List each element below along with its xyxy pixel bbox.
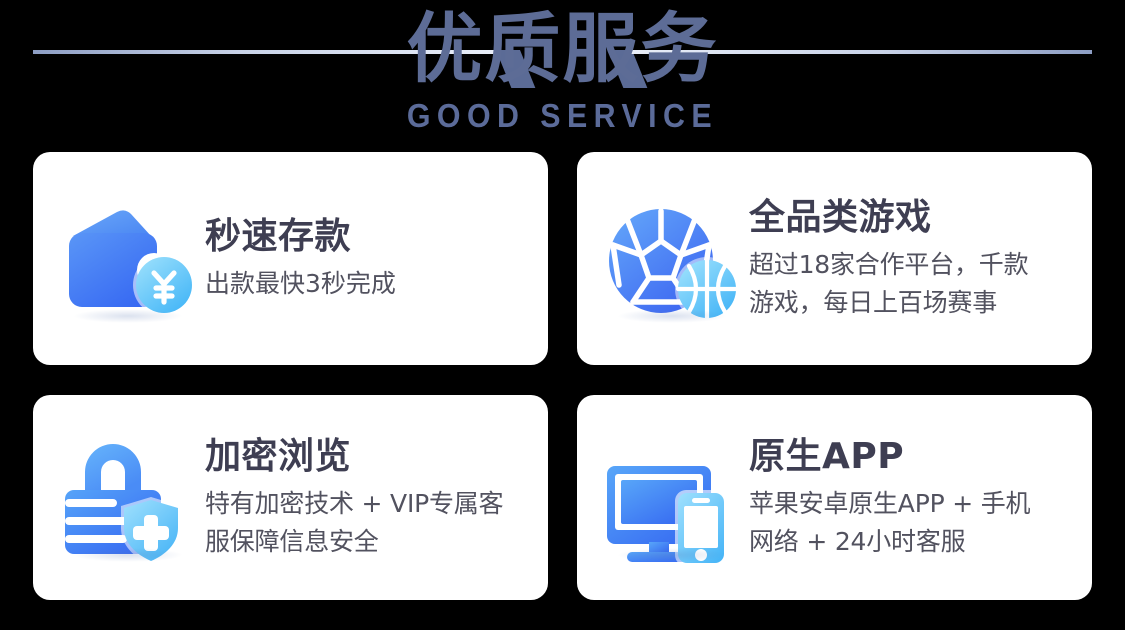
- feature-card-grid: 秒速存款 出款最快3秒完成: [33, 152, 1092, 600]
- monitor-phone-icon: [599, 428, 745, 568]
- wallet-yen-icon: [55, 189, 201, 329]
- card-text: 加密浏览 特有加密技术 + VIP专属客 服保障信息安全: [201, 435, 532, 561]
- card-subtitle-line: 网络 + 24小时客服: [749, 523, 1076, 561]
- icon-shadow: [73, 309, 184, 323]
- card-subtitle-line: 苹果安卓原生APP + 手机: [749, 485, 1076, 523]
- soccer-basketball-icon: [599, 189, 745, 329]
- lock-shield-icon: [55, 428, 201, 568]
- card-subtitle-line: 特有加密技术 + VIP专属客: [205, 485, 532, 523]
- icon-shadow: [617, 548, 728, 562]
- feature-card-games[interactable]: 全品类游戏 超过18家合作平台，千款 游戏，每日上百场赛事: [577, 152, 1092, 365]
- card-subtitle-line: 服保障信息安全: [205, 523, 532, 561]
- card-text: 全品类游戏 超过18家合作平台，千款 游戏，每日上百场赛事: [745, 196, 1076, 322]
- card-subtitle-line: 超过18家合作平台，千款: [749, 246, 1076, 284]
- feature-card-native-app[interactable]: 原生APP 苹果安卓原生APP + 手机 网络 + 24小时客服: [577, 395, 1092, 600]
- card-subtitle-line: 游戏，每日上百场赛事: [749, 284, 1076, 322]
- card-title: 全品类游戏: [749, 196, 1076, 240]
- card-text: 秒速存款 出款最快3秒完成: [201, 215, 532, 303]
- banner-header: 优质服务 GOOD SERVICE: [0, 0, 1125, 148]
- feature-card-encryption[interactable]: 加密浏览 特有加密技术 + VIP专属客 服保障信息安全: [33, 395, 548, 600]
- feature-card-deposit[interactable]: 秒速存款 出款最快3秒完成: [33, 152, 548, 365]
- card-text: 原生APP 苹果安卓原生APP + 手机 网络 + 24小时客服: [745, 435, 1076, 561]
- icon-shadow: [617, 309, 728, 323]
- icon-shadow: [73, 548, 184, 562]
- page-title: 优质服务: [0, 6, 1125, 92]
- card-title: 原生APP: [749, 435, 1076, 479]
- page-subtitle-en: GOOD SERVICE: [45, 97, 1080, 135]
- promo-banner: 优质服务 GOOD SERVICE: [0, 0, 1125, 630]
- card-title: 加密浏览: [205, 435, 532, 479]
- card-subtitle-line: 出款最快3秒完成: [205, 265, 532, 303]
- card-title: 秒速存款: [205, 215, 532, 259]
